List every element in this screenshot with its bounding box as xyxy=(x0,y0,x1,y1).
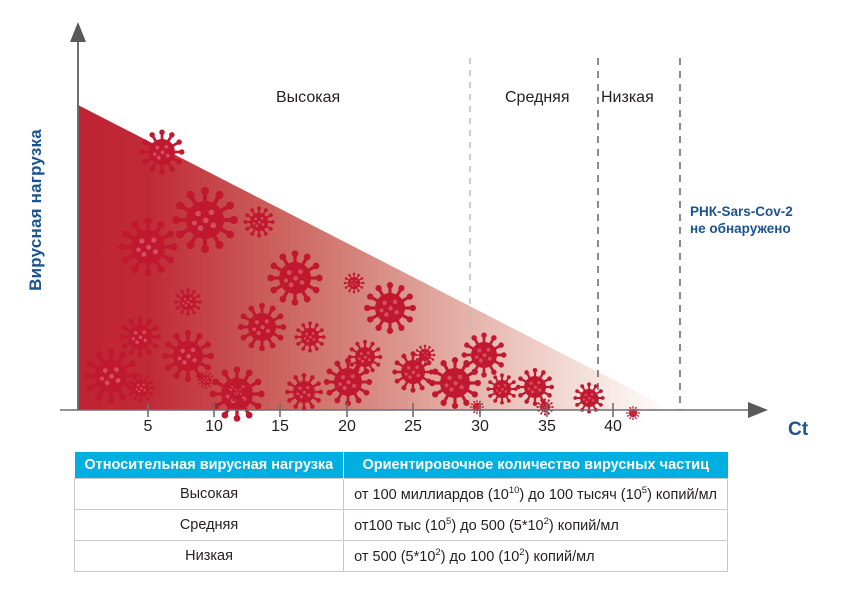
y-axis-title: Вирусная нагрузка xyxy=(26,100,46,320)
table-cell-count: от 100 миллиардов (1010) до 100 тысяч (1… xyxy=(344,479,728,510)
table-header-row: Относительная вирусная нагрузка Ориентир… xyxy=(75,452,728,479)
table-cell-level: Высокая xyxy=(75,479,344,510)
table-body: Высокаяот 100 миллиардов (1010) до 100 т… xyxy=(75,479,728,572)
viral-load-table: Относительная вирусная нагрузка Ориентир… xyxy=(74,452,728,572)
no-rna-note-line2: не обнаружено xyxy=(690,220,793,237)
zone-label: Средняя xyxy=(505,89,570,107)
x-axis-tick-label: 20 xyxy=(327,418,367,436)
zone-label: Высокая xyxy=(276,89,340,107)
table-header-count: Ориентировочное количество вирусных част… xyxy=(344,452,728,479)
table-cell-count: от100 тыс (105) до 500 (5*102) копий/мл xyxy=(344,510,728,541)
x-axis-tick-label: 40 xyxy=(593,418,633,436)
zone-label: Низкая xyxy=(601,89,654,107)
x-axis-arrow xyxy=(748,402,768,418)
x-axis-tick-label: 15 xyxy=(260,418,300,436)
x-axis-tick-label: 10 xyxy=(194,418,234,436)
infographic-root: Вирусная нагрузка Ct ВысокаяСредняяНизка… xyxy=(0,0,843,596)
table-row: Высокаяот 100 миллиардов (1010) до 100 т… xyxy=(75,479,728,510)
no-rna-note-line1: РНК-Sars-Cov-2 xyxy=(690,203,793,220)
table-cell-count: от 500 (5*102) до 100 (102) копий/мл xyxy=(344,541,728,572)
table-cell-level: Средняя xyxy=(75,510,344,541)
table-row: Низкаяот 500 (5*102) до 100 (102) копий/… xyxy=(75,541,728,572)
table-cell-level: Низкая xyxy=(75,541,344,572)
no-rna-detected-note: РНК-Sars-Cov-2 не обнаружено xyxy=(690,203,793,237)
table-row: Средняяот100 тыс (105) до 500 (5*102) ко… xyxy=(75,510,728,541)
x-axis-title: Ct xyxy=(788,419,808,441)
y-axis-arrow xyxy=(70,22,86,42)
x-axis-tick-label: 25 xyxy=(393,418,433,436)
x-axis-tick-label: 30 xyxy=(460,418,500,436)
x-axis-tick-label: 5 xyxy=(128,418,168,436)
x-axis-tick-label: 35 xyxy=(527,418,567,436)
viral-load-chart: Вирусная нагрузка Ct ВысокаяСредняяНизка… xyxy=(0,0,843,448)
table-header-level: Относительная вирусная нагрузка xyxy=(75,452,344,479)
